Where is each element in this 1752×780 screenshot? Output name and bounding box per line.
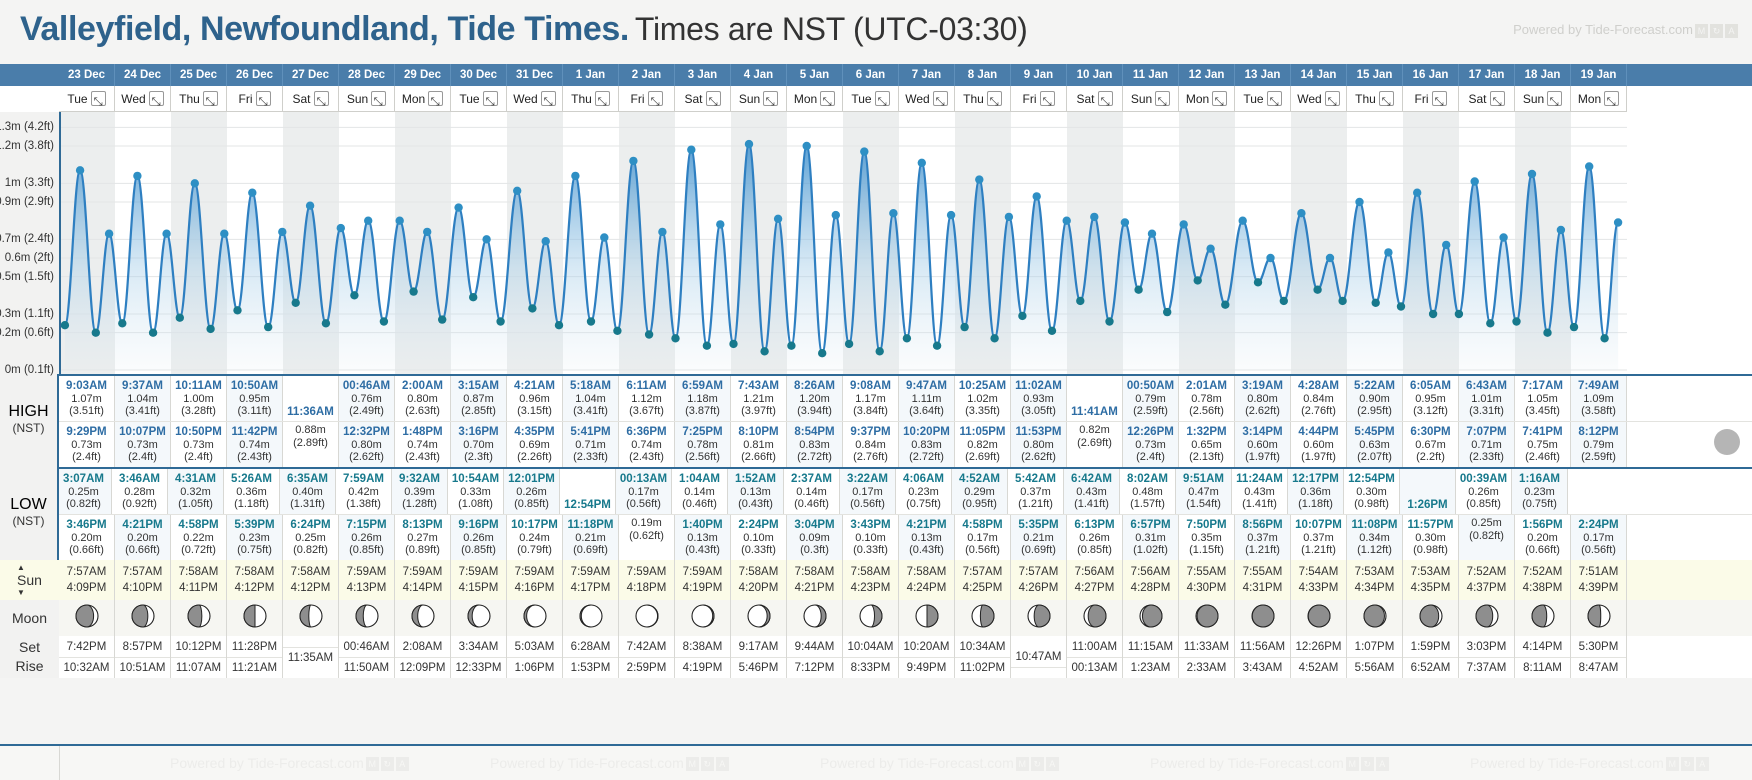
low-tide-point: [350, 291, 358, 299]
low-tide-time: 1:52AM: [735, 473, 776, 486]
moon-setrise-cell: 11:28PM11:21AM: [227, 636, 283, 678]
high-tide-point: [220, 230, 228, 238]
high-tide-time: 7:07PM: [1466, 426, 1506, 439]
low-tide-feet: (0.3ft): [800, 544, 829, 557]
low-tide-cell: 4:31AM0.32m(1.05ft): [168, 469, 224, 514]
high-tide-metres: 0.95m: [1415, 393, 1446, 406]
high-tide-point: [454, 203, 462, 211]
high-tide-metres: 1.09m: [1583, 393, 1614, 406]
current-time-marker: [1714, 429, 1740, 455]
y-axis-tick: 0.3m (1.1ft): [0, 308, 54, 320]
low-tide-time: 6:35AM: [287, 473, 328, 486]
high-tide-point: [1148, 230, 1156, 238]
date-header-corner: [0, 64, 59, 86]
expand-icon[interactable]: [875, 91, 890, 106]
low-tide-cell: 11:18PM0.21m(0.69ft): [563, 515, 619, 560]
dayofweek-cell[interactable]: Thu: [955, 86, 1011, 112]
low-tide-metres: 0.43m: [1244, 486, 1275, 499]
low-tide-cell: 12:01PM0.26m(0.85ft): [504, 469, 560, 514]
low-tide-point: [760, 347, 768, 355]
high-tide-cell: 9:03AM1.07m(3.51ft): [59, 376, 115, 421]
high-tide-point: [774, 215, 782, 223]
low-tide-time: 8:02AM: [1127, 473, 1168, 486]
low-tide-point: [1221, 301, 1229, 309]
high-tide-cell: 12:32PM0.80m(2.62ft): [339, 422, 395, 467]
low-tide-metres: 0.14m: [796, 486, 827, 499]
moon-setrise-cell: 1:07PM5:56AM: [1347, 636, 1403, 678]
date-header-cell[interactable]: 1 Jan: [563, 64, 619, 86]
date-header-cell[interactable]: 12 Jan: [1179, 64, 1235, 86]
dayofweek-cell[interactable]: Fri: [227, 86, 283, 112]
dayofweek-cell[interactable]: Fri: [619, 86, 675, 112]
expand-icon[interactable]: [933, 91, 948, 106]
low-tide-point: [92, 329, 100, 337]
sun-cell: 7:52AM4:37PM: [1459, 560, 1515, 600]
expand-icon[interactable]: [1325, 91, 1340, 106]
moon-cell: [1235, 600, 1291, 636]
high-tide-feet: (3.05ft): [1021, 405, 1056, 418]
dayofweek-label: Tue: [1243, 86, 1263, 112]
low-tide-point: [438, 315, 446, 323]
high-tide-cell: 7:17AM1.05m(3.45ft): [1515, 376, 1571, 421]
chart-plot-area: [59, 112, 1752, 374]
low-tide-point: [496, 317, 504, 325]
footer-watermark-text: Powered by Tide-Forecast.com: [1470, 755, 1664, 771]
high-tide-feet: (2.26ft): [517, 451, 552, 464]
low-tide-cell: 1:52AM0.13m(0.43ft): [728, 469, 784, 514]
sunset-time: 4:38PM: [1523, 580, 1563, 596]
low-tide-feet: (1.54ft): [1186, 498, 1221, 511]
high-tide-feet: (3.41ft): [573, 405, 608, 418]
expand-icon[interactable]: [1379, 91, 1394, 106]
high-tide-time: 9:03AM: [66, 380, 107, 393]
footer-watermark-text: Powered by Tide-Forecast.com: [1150, 755, 1344, 771]
low-tide-time: 4:06AM: [903, 473, 944, 486]
date-header-cell[interactable]: 8 Jan: [955, 64, 1011, 86]
high-tide-metres: 0.73m: [183, 439, 214, 452]
high-tide-time: 3:16PM: [458, 426, 498, 439]
moon-cell: [1123, 600, 1179, 636]
moon-setrise-cell: 8:57PM10:51AM: [115, 636, 171, 678]
expand-icon[interactable]: [256, 91, 271, 106]
high-tide-metres: 0.80m: [351, 439, 382, 452]
high-tide-metres: 0.75m: [1527, 439, 1558, 452]
moon-cell: [1459, 600, 1515, 636]
high-tide-cell: 3:15AM0.87m(2.85ft): [451, 376, 507, 421]
low-tide-metres: 0.39m: [404, 486, 435, 499]
sun-cell: 7:52AM4:38PM: [1515, 560, 1571, 600]
date-header-cell[interactable]: 25 Dec: [171, 64, 227, 86]
date-header-cell[interactable]: 9 Jan: [1011, 64, 1067, 86]
high-tide-feet: (2.2ft): [1416, 451, 1445, 464]
dayofweek-label: Wed: [121, 86, 145, 112]
date-header-cell[interactable]: 5 Jan: [787, 64, 843, 86]
date-header-cell[interactable]: 24 Dec: [115, 64, 171, 86]
moon-cell: [283, 600, 339, 636]
high-tide-metres: 0.78m: [687, 439, 718, 452]
dayofweek-label: Fri: [1415, 86, 1429, 112]
high-tide-metres: 0.78m: [1191, 393, 1222, 406]
low-tide-metres: 0.17m: [852, 486, 883, 499]
low-tide-cell: 2:24PM0.10m(0.33ft): [731, 515, 787, 560]
dayofweek-cell[interactable]: Thu: [171, 86, 227, 112]
sunrise-time: 7:59AM: [627, 564, 667, 580]
expand-icon[interactable]: [1267, 91, 1282, 106]
moon-setrise-cell: 7:42PM10:32AM: [59, 636, 115, 678]
header-watermark: Powered by Tide-Forecast.comM↻A: [1513, 22, 1738, 38]
watermark-icon-2: ↻: [1710, 24, 1723, 38]
low-tide-block: 2:31AM0.24m(0.79ft)3:07AM0.25m(0.82ft)3:…: [0, 467, 1752, 560]
date-header-cell[interactable]: 11 Jan: [1123, 64, 1179, 86]
dayofweek-cell[interactable]: Sat: [1459, 86, 1515, 112]
footer-watermark: Powered by Tide-Forecast.comM↻A: [1470, 755, 1709, 771]
high-tide-point: [248, 189, 256, 197]
watermark-icon-2: ↻: [1681, 757, 1694, 771]
moon-setrise-cell: 11:00AM00:13AM: [1067, 636, 1123, 678]
high-tide-time: 4:44PM: [1298, 426, 1338, 439]
dayofweek-cell[interactable]: Thu: [563, 86, 619, 112]
high-tide-feet: (2.76ft): [1301, 405, 1336, 418]
sun-cell: 7:58AM4:12PM: [283, 560, 339, 600]
high-tide-cell: 6:36PM0.74m(2.43ft): [619, 422, 675, 467]
low-tide-cell: 12:54PM: [560, 469, 616, 514]
moon-cell: [955, 600, 1011, 636]
date-header-cell[interactable]: 18 Jan: [1515, 64, 1571, 86]
expand-icon[interactable]: [371, 91, 386, 106]
expand-icon[interactable]: [314, 91, 329, 106]
moonset-time: 10:12PM: [171, 637, 226, 658]
high-tide-label: HIGH (NST): [0, 374, 59, 464]
sun-cell: 7:59AM4:18PM: [619, 560, 675, 600]
dayofweek-cell[interactable]: Sat: [1067, 86, 1123, 112]
low-tide-feet: (0.98ft): [1354, 498, 1389, 511]
dayofweek-label: Tue: [67, 86, 87, 112]
footer-watermark: Powered by Tide-Forecast.comM↻A: [820, 755, 1059, 771]
high-tide-cell: 9:37PM0.84m(2.76ft): [843, 422, 899, 467]
expand-icon[interactable]: [1432, 91, 1447, 106]
moon-phase-icon: [1306, 603, 1332, 634]
date-header-cell[interactable]: 30 Dec: [451, 64, 507, 86]
high-tide-time: 7:17AM: [1522, 380, 1563, 393]
high-tide-metres: 0.60m: [1303, 439, 1334, 452]
dayofweek-cell[interactable]: Wed: [1291, 86, 1347, 112]
moonrise-time: 5:56AM: [1347, 658, 1402, 678]
low-tide-point: [380, 317, 388, 325]
low-tide-cell: 7:50PM0.35m(1.15ft): [1179, 515, 1235, 560]
footer-watermark: Powered by Tide-Forecast.comM↻A: [490, 755, 729, 771]
moonrise-time: 10:32AM: [59, 658, 114, 678]
high-tide-feet: (2.62ft): [349, 451, 384, 464]
high-tide-feet: (3.45ft): [1525, 405, 1560, 418]
high-tide-metres: 1.12m: [631, 393, 662, 406]
low-tide-feet: (0.43ft): [909, 544, 944, 557]
high-tide-time: 11:42PM: [231, 426, 277, 439]
low-tide-metres: 0.36m: [236, 486, 267, 499]
sun-cell: 7:57AM4:09PM: [59, 560, 115, 600]
dayofweek-cell[interactable]: Tue: [1235, 86, 1291, 112]
expand-icon[interactable]: [149, 91, 164, 106]
expand-icon[interactable]: [1604, 91, 1619, 106]
moonrise-time: 00:13AM: [1067, 658, 1122, 678]
low-tide-label-text: LOW: [10, 496, 46, 514]
low-tide-feet: (1.38ft): [346, 498, 381, 511]
low-tide-point: [1018, 312, 1026, 320]
date-header-cell[interactable]: 4 Jan: [731, 64, 787, 86]
low-tide-feet: (0.75ft): [1522, 498, 1557, 511]
watermark-icon-1: M: [1666, 757, 1679, 771]
high-tide-point: [337, 224, 345, 232]
low-tide-metres: 0.32m: [180, 486, 211, 499]
low-tide-cell: 7:15PM0.26m(0.85ft): [339, 515, 395, 560]
dayofweek-cell[interactable]: Wed: [115, 86, 171, 112]
sunrise-time: 7:53AM: [1355, 564, 1395, 580]
low-tide-time: 6:42AM: [1071, 473, 1112, 486]
expand-icon[interactable]: [820, 91, 835, 106]
expand-icon[interactable]: [203, 91, 218, 106]
moon-phase-icon: [1474, 603, 1500, 634]
expand-icon[interactable]: [1547, 91, 1562, 106]
date-header-cell[interactable]: 2 Jan: [619, 64, 675, 86]
high-tide-cell: 6:11AM1.12m(3.67ft): [619, 376, 675, 421]
high-tide-point: [658, 228, 666, 236]
date-header-cell[interactable]: 15 Jan: [1347, 64, 1403, 86]
moonrise-time: 6:52AM: [1403, 658, 1458, 678]
watermark-icon-1: M: [1346, 757, 1359, 771]
dayofweek-cell[interactable]: Wed: [899, 86, 955, 112]
sunset-time: 4:10PM: [123, 580, 163, 596]
low-tide-metres: 0.25m: [295, 532, 326, 545]
high-tide-time: 4:21AM: [514, 380, 555, 393]
sunset-time: 4:35PM: [1411, 580, 1451, 596]
low-tide-cell: 5:26AM0.36m(1.18ft): [224, 469, 280, 514]
date-header-cell[interactable]: 13 Jan: [1235, 64, 1291, 86]
low-tide-time: 9:51AM: [1183, 473, 1224, 486]
date-header-cell[interactable]: 23 Dec: [59, 64, 115, 86]
high-tide-point: [860, 147, 868, 155]
date-header-cell[interactable]: 29 Dec: [395, 64, 451, 86]
high-tide-metres: 0.69m: [519, 439, 550, 452]
low-tide-metres: 0.13m: [911, 532, 942, 545]
high-tide-row-1: 9:03AM1.07m(3.51ft)9:37AM1.04m(3.41ft)10…: [59, 376, 1752, 421]
watermark-icon-3: A: [716, 757, 729, 771]
date-header-cell[interactable]: 31 Dec: [507, 64, 563, 86]
low-tide-feet: (0.85ft): [514, 498, 549, 511]
low-tide-time: 6:57PM: [1130, 519, 1170, 532]
low-tide-feet: (1.41ft): [1242, 498, 1277, 511]
high-tide-point: [162, 230, 170, 238]
dayofweek-cell[interactable]: Mon: [1179, 86, 1235, 112]
moon-setrise-cell: 11:15AM1:23AM: [1123, 636, 1179, 678]
high-tide-metres: 1.20m: [799, 393, 830, 406]
date-header-cell[interactable]: 10 Jan: [1067, 64, 1123, 86]
low-tide-feet: (0.46ft): [682, 498, 717, 511]
dayofweek-cell[interactable]: Sun: [731, 86, 787, 112]
moonrise-time: 8:33PM: [843, 658, 898, 678]
sun-cell: 7:59AM4:19PM: [675, 560, 731, 600]
expand-icon[interactable]: [595, 91, 610, 106]
dayofweek-cell[interactable]: Wed: [507, 86, 563, 112]
expand-icon[interactable]: [541, 91, 556, 106]
dayofweek-cell[interactable]: Sat: [283, 86, 339, 112]
dayofweek-cell[interactable]: Tue: [843, 86, 899, 112]
low-tide-feet: (0.85ft): [461, 544, 496, 557]
low-tide-feet: (1.21ft): [1245, 544, 1280, 557]
dayofweek-cell[interactable]: Thu: [1347, 86, 1403, 112]
high-tide-cell: 0.82m(2.69ft): [1067, 422, 1123, 467]
date-header-cell[interactable]: 14 Jan: [1291, 64, 1347, 86]
sunset-time: 4:19PM: [683, 580, 723, 596]
high-tide-feet: (3.94ft): [797, 405, 832, 418]
low-tide-cell: 6:42AM0.43m(1.41ft): [1064, 469, 1120, 514]
high-tide-cell: 3:14PM0.60m(1.97ft): [1235, 422, 1291, 467]
footer-watermark-text: Powered by Tide-Forecast.com: [820, 755, 1014, 771]
date-header-cell[interactable]: 19 Jan: [1571, 64, 1627, 86]
moon-phase-icon: [1418, 603, 1444, 634]
expand-icon[interactable]: [1490, 91, 1505, 106]
low-tide-point: [176, 314, 184, 322]
date-header-cell[interactable]: 17 Jan: [1459, 64, 1515, 86]
dayofweek-cell[interactable]: Tue: [451, 86, 507, 112]
dayofweek-cell[interactable]: Mon: [787, 86, 843, 112]
moonrise-time: 12:09PM: [395, 658, 450, 678]
moonset-time: 5:03AM: [507, 637, 562, 658]
sunrise-time: 7:59AM: [459, 564, 499, 580]
low-tide-time: 1:04AM: [679, 473, 720, 486]
tide-chart: 1.3m (4.2ft)1.2m (3.8ft)1m (3.3ft)0.9m (…: [0, 112, 1752, 374]
low-tide-feet: (0.75ft): [237, 544, 272, 557]
high-tide-cell: 7:43AM1.21m(3.97ft): [731, 376, 787, 421]
expand-icon[interactable]: [428, 91, 443, 106]
high-tide-feet: (2.4ft): [72, 451, 101, 464]
high-tide-cell: 5:45PM0.63m(2.07ft): [1347, 422, 1403, 467]
high-tide-feet: (2.4ft): [184, 451, 213, 464]
watermark-icon-3: A: [1046, 757, 1059, 771]
footer-watermarks: Powered by Tide-Forecast.comM↻APowered b…: [59, 746, 1752, 780]
sunrise-time: 7:59AM: [403, 564, 443, 580]
low-tide-cell: 3:07AM0.25m(0.82ft): [56, 469, 112, 514]
high-tide-point: [423, 228, 431, 236]
low-tide-metres: 0.35m: [1191, 532, 1222, 545]
watermark-icon-1: M: [686, 757, 699, 771]
high-tide-cell: 6:05AM0.95m(3.12ft): [1403, 376, 1459, 421]
moonset-time: 11:15AM: [1123, 637, 1178, 658]
moon-cell: [59, 600, 115, 636]
high-tide-point: [600, 233, 608, 241]
dayofweek-cell[interactable]: Fri: [1403, 86, 1459, 112]
dayofweek-label: Thu: [1355, 86, 1376, 112]
expand-icon[interactable]: [1212, 91, 1227, 106]
expand-icon[interactable]: [706, 91, 721, 106]
moonset-time: 11:33AM: [1179, 637, 1234, 658]
moon-phase-icon: [802, 603, 828, 634]
dayofweek-label: Wed: [513, 86, 537, 112]
sunset-time: 4:33PM: [1299, 580, 1339, 596]
high-tide-metres: 0.83m: [799, 439, 830, 452]
low-tide-cell: 1:56PM0.20m(0.66ft): [1515, 515, 1571, 560]
sunset-time: 4:34PM: [1355, 580, 1395, 596]
low-tide-cell: 6:57PM0.31m(1.02ft): [1123, 515, 1179, 560]
date-header-cell[interactable]: 27 Dec: [283, 64, 339, 86]
moon-phase-icon: [298, 603, 324, 634]
low-tide-point: [645, 330, 653, 338]
low-tide-point: [292, 299, 300, 307]
low-tide-cell: 6:35AM0.40m(1.31ft): [280, 469, 336, 514]
high-tide-metres: 0.84m: [1303, 393, 1334, 406]
expand-icon[interactable]: [648, 91, 663, 106]
moonrise-time: 4:52AM: [1291, 658, 1346, 678]
high-tide-feet: (2.62ft): [1245, 405, 1280, 418]
low-tide-time: 10:17PM: [511, 519, 558, 532]
expand-icon[interactable]: [987, 91, 1002, 106]
high-tide-time: 12:26PM: [1127, 426, 1174, 439]
moonrise-time: 1:23AM: [1123, 658, 1178, 678]
expand-icon[interactable]: [483, 91, 498, 106]
expand-icon[interactable]: [763, 91, 778, 106]
low-tide-cell: 7:59AM0.42m(1.38ft): [336, 469, 392, 514]
low-tide-time: 4:21PM: [906, 519, 946, 532]
date-header-cell[interactable]: 16 Jan: [1403, 64, 1459, 86]
date-header-cell[interactable]: 6 Jan: [843, 64, 899, 86]
sun-cell: 7:58AM4:21PM: [787, 560, 843, 600]
high-tide-feet: (2.49ft): [349, 405, 384, 418]
watermark-icon-2: ↻: [701, 757, 714, 771]
dayofweek-cell[interactable]: Sun: [1123, 86, 1179, 112]
high-tide-feet: (3.41ft): [125, 405, 160, 418]
high-tide-time: 7:25PM: [682, 426, 722, 439]
date-header-cell[interactable]: 26 Dec: [227, 64, 283, 86]
high-tide-metres: 0.71m: [575, 439, 606, 452]
moonset-time: 3:03PM: [1459, 637, 1514, 658]
dayofweek-label: Mon: [1186, 86, 1209, 112]
moon-phase-icon: [970, 603, 996, 634]
date-header-cell[interactable]: 3 Jan: [675, 64, 731, 86]
dayofweek-cell[interactable]: Mon: [395, 86, 451, 112]
dayofweek-cell[interactable]: Sat: [675, 86, 731, 112]
high-tide-cell: 7:25PM0.78m(2.56ft): [675, 422, 731, 467]
expand-icon[interactable]: [1098, 91, 1113, 106]
expand-icon[interactable]: [1155, 91, 1170, 106]
low-tide-metres: 0.13m: [687, 532, 718, 545]
moon-phase-icon: [522, 603, 548, 634]
low-tide-point: [1543, 329, 1551, 337]
low-tide-point: [960, 323, 968, 331]
low-tide-metres: 0.27m: [407, 532, 438, 545]
high-tide-cell: 3:16PM0.70m(2.3ft): [451, 422, 507, 467]
dayofweek-cell[interactable]: Mon: [1571, 86, 1627, 112]
dayofweek-cell[interactable]: Sun: [1515, 86, 1571, 112]
low-tide-point: [933, 342, 941, 350]
header-watermark-text: Powered by Tide-Forecast.com: [1513, 22, 1693, 37]
date-header-cell[interactable]: 7 Jan: [899, 64, 955, 86]
high-tide-metres: 1.04m: [127, 393, 158, 406]
dayofweek-cell[interactable]: Fri: [1011, 86, 1067, 112]
sun-cell: 7:55AM4:31PM: [1235, 560, 1291, 600]
sunrise-time: 7:56AM: [1131, 564, 1171, 580]
date-header-cell[interactable]: 28 Dec: [339, 64, 395, 86]
high-tide-point: [889, 209, 897, 217]
expand-icon[interactable]: [1040, 91, 1055, 106]
moonrise-time: 7:37AM: [1459, 658, 1514, 678]
dayofweek-cell[interactable]: Tue: [59, 86, 115, 112]
dayofweek-cell[interactable]: Sun: [339, 86, 395, 112]
high-tide-cell: 8:10PM0.81m(2.66ft): [731, 422, 787, 467]
high-tide-feet: (1.97ft): [1245, 451, 1280, 464]
expand-icon[interactable]: [91, 91, 106, 106]
high-tide-point: [716, 220, 724, 228]
moon-phase-icon: [1250, 603, 1276, 634]
low-tide-feet: (0.95ft): [962, 498, 997, 511]
moonset-time: 5:30PM: [1571, 637, 1626, 658]
